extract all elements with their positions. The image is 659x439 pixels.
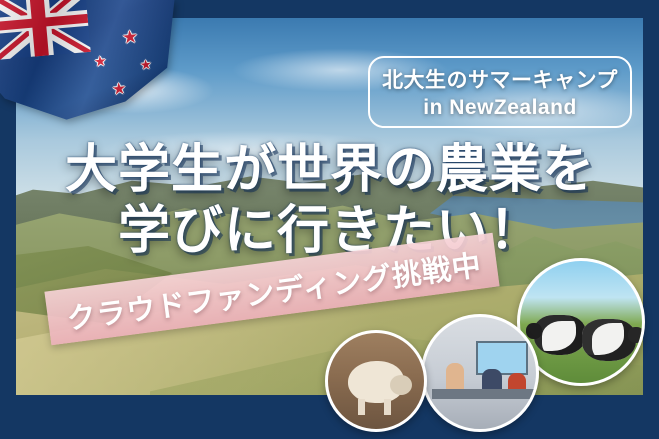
cow-head-shape	[628, 327, 644, 343]
frame-right-border	[643, 0, 659, 439]
photo-sheep	[325, 330, 427, 432]
subtitle-box: 北大生のサマーキャンプ in NewZealand	[368, 56, 632, 128]
cow-head-shape	[526, 323, 542, 339]
new-zealand-flag-icon: ★ ★ ★ ★	[0, 0, 178, 132]
page-title: 大学生が世界の農業を 学びに行きたい！	[20, 140, 640, 263]
desk-shape	[432, 389, 536, 399]
sheep-leg-shape	[358, 399, 365, 415]
subtitle-line-2: in NewZealand	[423, 96, 577, 120]
sheep-head-shape	[390, 375, 412, 395]
cow-shape	[534, 315, 586, 355]
presentation-screen	[476, 341, 528, 375]
flag-fold-shading	[0, 0, 178, 131]
poster-image: ★ ★ ★ ★ 北大生のサマーキャンプ in NewZealand 大学生が世界…	[0, 0, 659, 439]
sheep-leg-shape	[384, 399, 391, 415]
subtitle-line-1: 北大生のサマーキャンプ	[382, 64, 618, 94]
cow-shape	[582, 319, 636, 361]
headline-line-1: 大学生が世界の農業を	[20, 140, 640, 201]
photo-classroom	[421, 314, 539, 432]
